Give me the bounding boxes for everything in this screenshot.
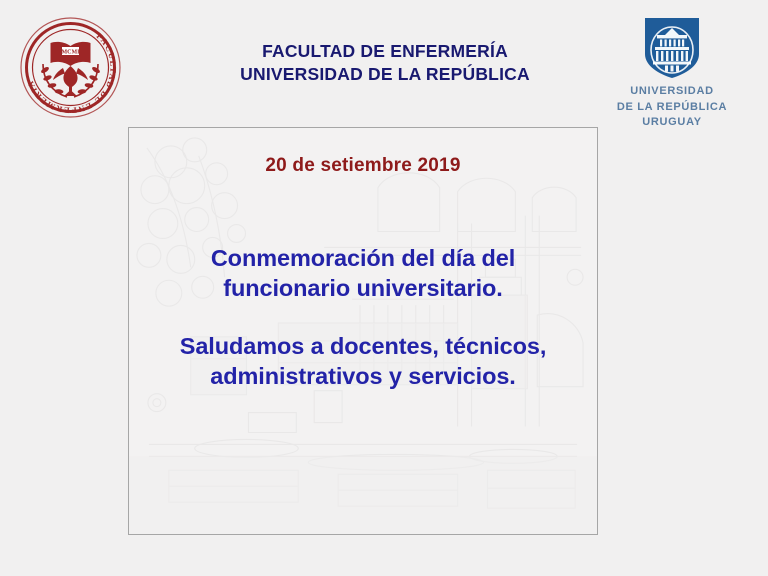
announcement-box: 20 de setiembre 2019 Conmemoración del d…: [128, 127, 598, 535]
announcement-message: Conmemoración del día del funcionario un…: [129, 244, 597, 391]
event-date: 20 de setiembre 2019: [129, 155, 597, 177]
udelar-shield-icon: [645, 18, 699, 78]
udelar-logo-text: UNIVERSIDAD DE LA REPÚBLICA URUGUAY: [612, 84, 732, 131]
title-line-2: UNIVERSIDAD DE LA REPÚBLICA: [170, 63, 600, 86]
title-line-1: FACULTAD DE ENFERMERÍA: [170, 40, 600, 63]
page-title: FACULTAD DE ENFERMERÍA UNIVERSIDAD DE LA…: [170, 40, 600, 86]
paragraph-1-line-2: funcionario universitario.: [129, 274, 597, 304]
udelar-line-1: UNIVERSIDAD: [612, 84, 732, 100]
udelar-line-2: DE LA REPÚBLICA: [612, 100, 732, 116]
message-paragraph-1: Conmemoración del día del funcionario un…: [129, 244, 597, 304]
faculty-seal-icon: FACULTAD DE ENFERMERIA MCMI: [19, 16, 122, 119]
svg-text:MCMI: MCMI: [62, 50, 81, 56]
udelar-logo: UNIVERSIDAD DE LA REPÚBLICA URUGUAY: [612, 18, 732, 131]
message-paragraph-2: Saludamos a docentes, técnicos, administ…: [129, 332, 597, 392]
paragraph-1-line-1: Conmemoración del día del: [129, 244, 597, 274]
slide-header: FACULTAD DE ENFERMERIA MCMI: [0, 0, 768, 127]
udelar-line-3: URUGUAY: [612, 115, 732, 131]
paragraph-2-line-2: administrativos y servicios.: [129, 362, 597, 392]
paragraph-2-line-1: Saludamos a docentes, técnicos,: [129, 332, 597, 362]
